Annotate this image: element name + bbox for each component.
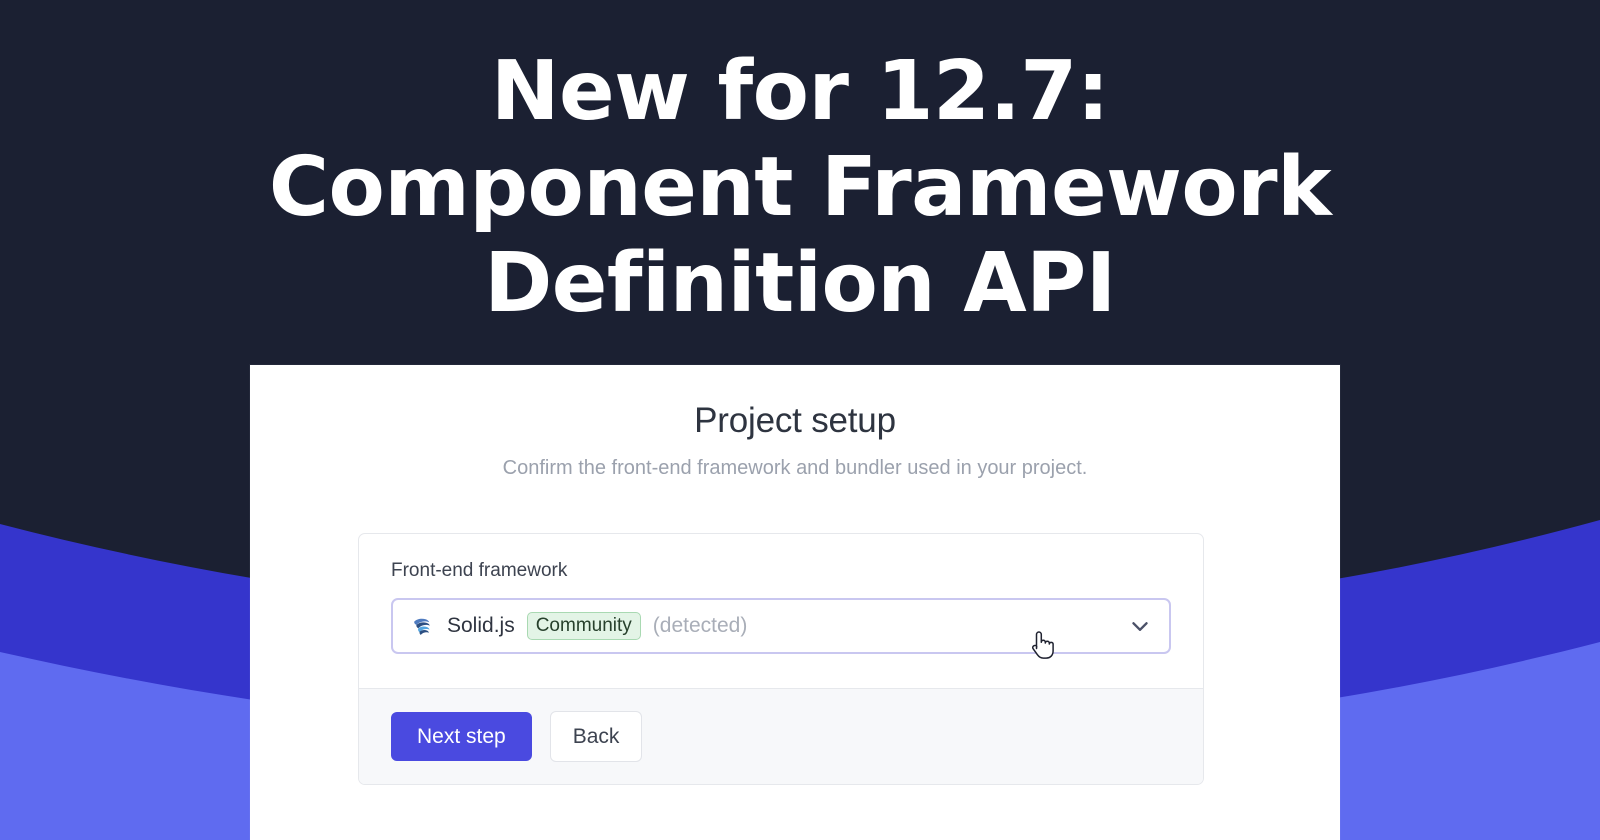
chevron-down-icon[interactable] — [1127, 613, 1153, 639]
community-badge: Community — [527, 612, 641, 641]
wizard-action-bar: Next step Back — [359, 688, 1203, 784]
framework-panel-body: Front-end framework Solid.js Community (… — [359, 534, 1203, 688]
framework-select[interactable]: Solid.js Community (detected) — [391, 598, 1171, 654]
card-title: Project setup — [250, 401, 1340, 441]
detected-note: (detected) — [653, 614, 748, 638]
framework-name: Solid.js — [447, 614, 515, 638]
framework-select-value: Solid.js Community (detected) — [411, 612, 1127, 641]
project-setup-card: Project setup Confirm the front-end fram… — [250, 365, 1340, 840]
next-step-button[interactable]: Next step — [391, 712, 532, 761]
back-button[interactable]: Back — [550, 711, 643, 762]
solidjs-logo-icon — [411, 614, 435, 638]
card-subtitle: Confirm the front-end framework and bund… — [250, 457, 1340, 480]
front-end-framework-label: Front-end framework — [391, 560, 1171, 582]
framework-form-panel: Front-end framework Solid.js Community (… — [358, 533, 1204, 785]
